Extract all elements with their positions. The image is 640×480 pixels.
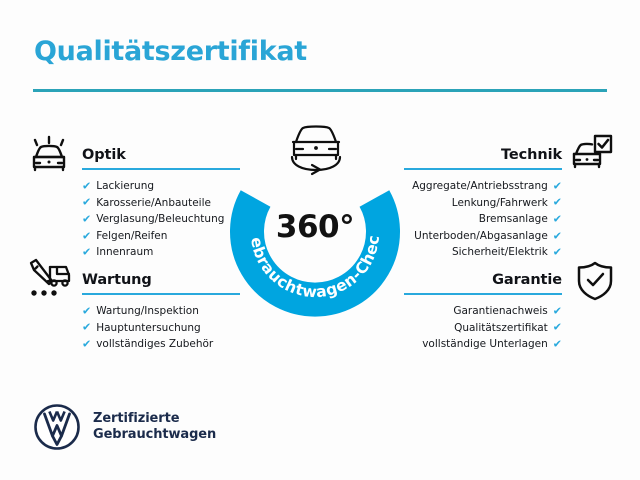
section-title: Optik (82, 147, 126, 163)
section-header: Wartung (82, 266, 240, 292)
list-item-label: Felgen/Reifen (96, 228, 167, 245)
car-wash-icon (26, 132, 72, 176)
section-wartung: Wartung ✔Wartung/Inspektion ✔Hauptunters… (82, 266, 240, 353)
list-item-label: Hauptuntersuchung (96, 320, 201, 337)
footer-line-1: Zertifizierte (93, 411, 216, 427)
list-item-label: Innenraum (96, 244, 153, 261)
check-icon: ✔ (553, 230, 562, 241)
list-item: ✔Hauptuntersuchung (82, 320, 240, 337)
checklist: Garantienachweis✔ Qualitätszertifikat✔ v… (404, 303, 562, 353)
shield-check-icon (572, 259, 618, 303)
volkswagen-logo (33, 403, 81, 451)
section-divider (404, 168, 562, 170)
section-divider (82, 168, 240, 170)
list-item: Bremsanlage✔ (404, 211, 562, 228)
checklist: ✔Wartung/Inspektion ✔Hauptuntersuchung ✔… (82, 303, 240, 353)
checklist: Aggregate/Antriebsstrang✔ Lenkung/Fahrwe… (404, 178, 562, 261)
list-item-label: Wartung/Inspektion (96, 303, 199, 320)
section-title: Garantie (492, 272, 562, 288)
section-technik: Technik Aggregate/Antriebsstrang✔ Lenkun… (404, 141, 562, 261)
check-icon: ✔ (553, 213, 562, 224)
section-header: Garantie (404, 266, 562, 292)
list-item: ✔Karosserie/Anbauteile (82, 195, 240, 212)
list-item: vollständige Unterlagen✔ (404, 336, 562, 353)
list-item-label: Aggregate/Antriebsstrang (412, 178, 548, 195)
check-icon: ✔ (553, 180, 562, 191)
check-icon: ✔ (553, 322, 562, 333)
list-item: Qualitätszertifikat✔ (404, 320, 562, 337)
section-header: Technik (404, 141, 562, 167)
list-item-label: Lackierung (96, 178, 154, 195)
check-icon: ✔ (82, 338, 91, 349)
footer-line-2: Gebrauchtwagen (93, 427, 216, 443)
section-divider (404, 293, 562, 295)
check-icon: ✔ (82, 197, 91, 208)
section-divider (82, 293, 240, 295)
badge-360-check: Gebrauchtwagen-Check 360° (229, 147, 401, 319)
check-icon: ✔ (82, 213, 91, 224)
car-checkbox-icon (568, 132, 614, 176)
section-garantie: Garantie Garantienachweis✔ Qualitätszert… (404, 266, 562, 353)
list-item: Aggregate/Antriebsstrang✔ (404, 178, 562, 195)
check-icon: ✔ (82, 230, 91, 241)
list-item: ✔Verglasung/Beleuchtung (82, 211, 240, 228)
list-item-label: Lenkung/Fahrwerk (452, 195, 548, 212)
list-item-label: Verglasung/Beleuchtung (96, 211, 224, 228)
list-item: ✔Wartung/Inspektion (82, 303, 240, 320)
checklist: ✔Lackierung ✔Karosserie/Anbauteile ✔Verg… (82, 178, 240, 261)
wrench-car-icon (26, 257, 72, 301)
check-icon: ✔ (82, 322, 91, 333)
check-icon: ✔ (553, 197, 562, 208)
list-item: ✔Felgen/Reifen (82, 228, 240, 245)
section-title: Technik (501, 147, 562, 163)
footer-branding: Zertifizierte Gebrauchtwagen (33, 403, 216, 451)
list-item-label: Karosserie/Anbauteile (96, 195, 211, 212)
list-item: ✔Innenraum (82, 244, 240, 261)
check-icon: ✔ (82, 305, 91, 316)
list-item-label: vollständiges Zubehör (96, 336, 213, 353)
check-icon: ✔ (82, 247, 91, 258)
list-item-label: vollständige Unterlagen (422, 336, 548, 353)
badge-center-label: 360° (229, 209, 401, 245)
section-optik: Optik ✔Lackierung ✔Karosserie/Anbauteile… (82, 141, 240, 261)
car-rotate-icon (279, 120, 353, 176)
title-divider (33, 89, 607, 92)
section-header: Optik (82, 141, 240, 167)
check-icon: ✔ (82, 180, 91, 191)
section-title: Wartung (82, 272, 152, 288)
list-item-label: Garantienachweis (453, 303, 547, 320)
list-item-label: Sicherheit/Elektrik (452, 244, 548, 261)
list-item: ✔vollständiges Zubehör (82, 336, 240, 353)
list-item: ✔Lackierung (82, 178, 240, 195)
certificate-page: Qualitätszertifikat (0, 0, 640, 480)
list-item: Sicherheit/Elektrik✔ (404, 244, 562, 261)
list-item: Lenkung/Fahrwerk✔ (404, 195, 562, 212)
list-item-label: Bremsanlage (479, 211, 548, 228)
list-item: Garantienachweis✔ (404, 303, 562, 320)
check-icon: ✔ (553, 305, 562, 316)
page-title: Qualitätszertifikat (34, 36, 307, 67)
check-icon: ✔ (553, 338, 562, 349)
list-item: Unterboden/Abgasanlage✔ (404, 228, 562, 245)
footer-text: Zertifizierte Gebrauchtwagen (93, 411, 216, 443)
list-item-label: Unterboden/Abgasanlage (414, 228, 548, 245)
list-item-label: Qualitätszertifikat (454, 320, 548, 337)
check-icon: ✔ (553, 247, 562, 258)
